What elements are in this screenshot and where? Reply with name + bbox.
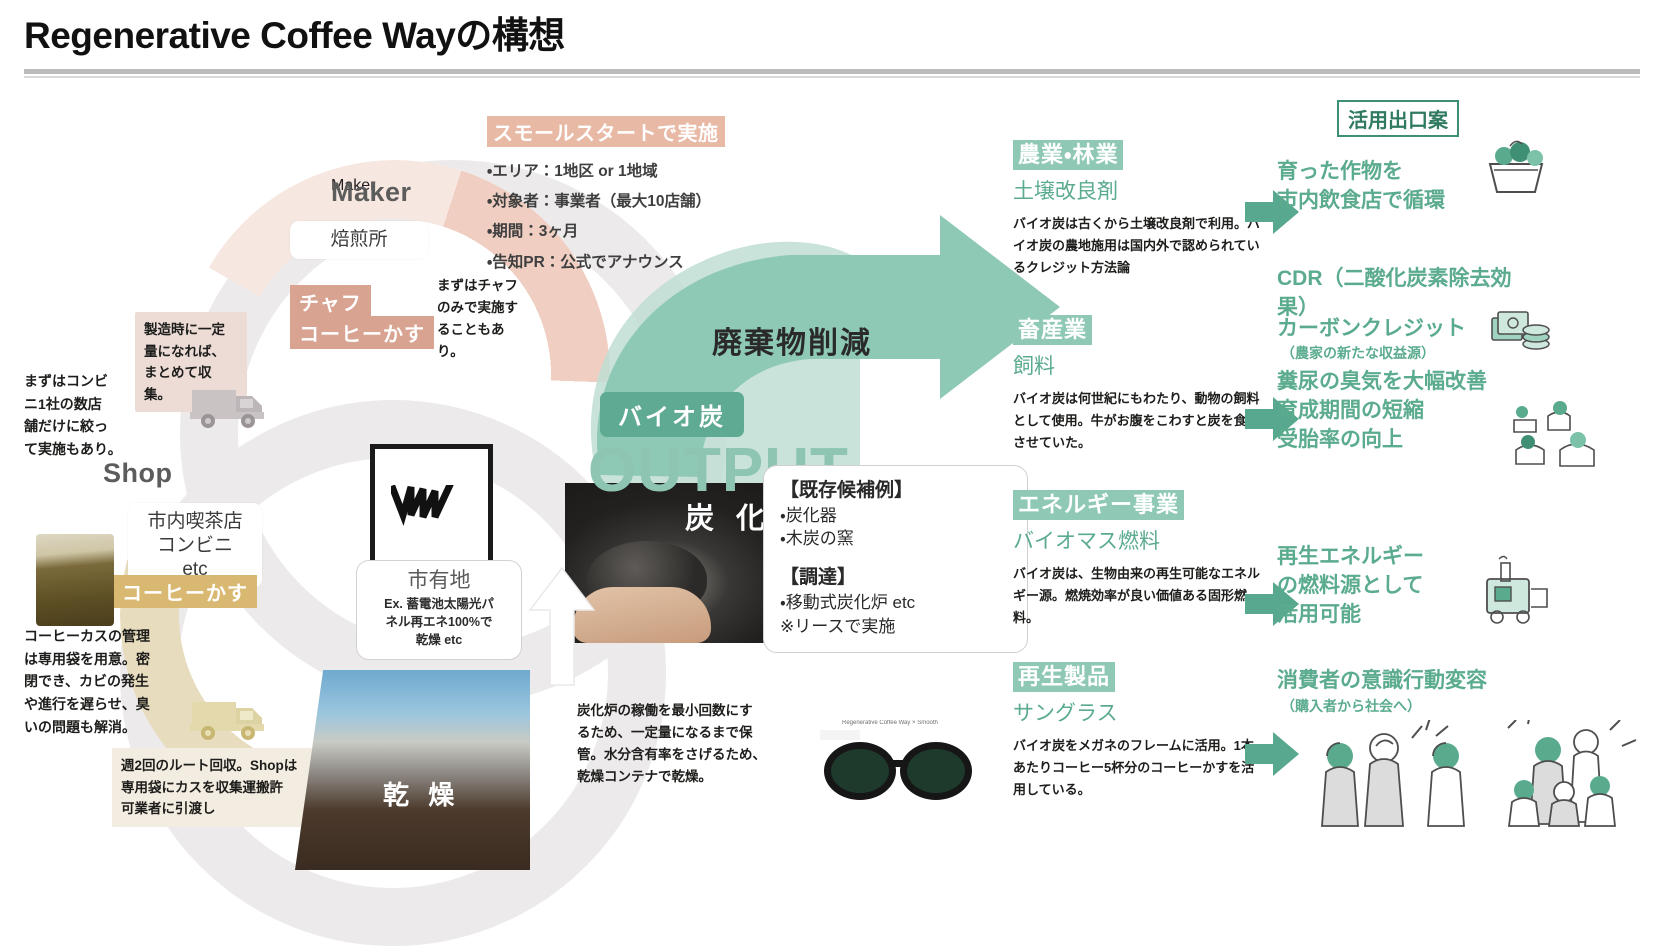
section-livestock: 畜産業 飼料 バイオ炭は何世紀にもわたり、動物の飼料として使用。牛がお腹をこわす… xyxy=(1013,315,1263,455)
biochar-tag: バイオ炭 xyxy=(600,392,744,437)
exit-item-consumer-change-sub: （購入者から社会へ） xyxy=(1281,697,1581,717)
exit-item-consumer-change: 消費者の意識行動変容 xyxy=(1277,667,1577,696)
candidate-item: ※リースで実施 xyxy=(780,615,1013,639)
section-tag: 農業・林業 xyxy=(1013,140,1123,170)
drying-site-photo xyxy=(295,670,530,870)
drying-label: 乾 燥 xyxy=(383,775,460,812)
coffee-grounds-bag-photo xyxy=(36,534,114,626)
maker-tag-grounds: コーヒーかす xyxy=(290,316,434,349)
city-land-card: 市有地 Ex. 蓄電池太陽光パ ネル再エネ100%で 乾燥 etc xyxy=(356,560,522,660)
section-body: バイオ炭をメガネのフレームに活用。1本あたりコーヒー5杯分のコーヒーかすを活用し… xyxy=(1013,735,1263,802)
people-group-icon xyxy=(1300,720,1640,865)
harvest-basket-icon xyxy=(1480,140,1550,198)
section-subtitle: バイオマス燃料 xyxy=(1013,529,1263,554)
section-subtitle: 土壌改良剤 xyxy=(1013,179,1263,204)
exit-arrow-icon xyxy=(1245,730,1301,778)
shop-note-convenience: まずはコンビ ニ1社の数店 舗だけに絞っ て実施もあり。 xyxy=(24,370,136,461)
title-divider-secondary xyxy=(24,76,1640,78)
candidate-heading-existing: 【既存候補例】 xyxy=(780,478,1013,504)
section-subtitle: 飼料 xyxy=(1013,354,1263,379)
section-tag: 再生製品 xyxy=(1013,662,1115,692)
carbonize-note: 炭化炉の稼働を最小回数にす るため、一定量になるまで保 管。水分含有率をさげるた… xyxy=(577,700,805,787)
title-divider xyxy=(24,69,1640,74)
maker-pill: 焙煎所 xyxy=(290,221,428,259)
avatar xyxy=(370,444,493,567)
sunglasses-photo: Regenerative Coffee Way × Smooth xyxy=(812,720,992,815)
flow-arrow-up-icon xyxy=(500,560,620,690)
section-body: バイオ炭は、生物由来の再生可能なエネルギー源。燃焼効率が良い価値ある固形燃料。 xyxy=(1013,563,1263,630)
small-start-title: スモールスタートで実施 xyxy=(487,116,725,147)
maker-heading-text: Maker xyxy=(331,177,412,208)
section-body: バイオ炭は何世紀にもわたり、動物の飼料として使用。牛がお腹をこわすと炭を食べさせ… xyxy=(1013,388,1263,455)
exit-item-livestock: 糞尿の臭気を大幅改善 育成期間の短縮 受胎率の向上 xyxy=(1277,368,1512,455)
candidate-item: ・木炭の窯 xyxy=(780,527,1013,551)
money-stack-icon xyxy=(1488,300,1554,358)
section-tag: 畜産業 xyxy=(1013,315,1092,345)
livestock-icon xyxy=(1508,390,1618,480)
waste-reduction-label: 廃棄物削減 xyxy=(712,318,872,362)
city-land-sub: Ex. 蓄電池太陽光パ ネル再エネ100%で 乾燥 etc xyxy=(365,595,513,649)
shop-note-management: コーヒーカスの管理 は専用袋を用意。密 閉でき、カビの発生 や進行を遅らせ、臭 … xyxy=(24,625,150,738)
sunglasses-photo-caption: Regenerative Coffee Way × Smooth xyxy=(842,720,938,726)
candidate-equipment-card: 【既存候補例】 ・炭化器 ・木炭の窯 【調達】 ・移動式炭化炉 etc ※リース… xyxy=(763,465,1028,653)
shop-heading: Shop xyxy=(103,458,173,489)
candidate-item: ・移動式炭化炉 etc xyxy=(780,591,1013,615)
candidate-heading-procurement: 【調達】 xyxy=(780,565,1013,591)
garbage-truck-icon-shop xyxy=(190,690,276,747)
section-subtitle: サングラス xyxy=(1013,701,1263,726)
section-energy: エネルギー事業 バイオマス燃料 バイオ炭は、生物由来の再生可能なエネルギー源。燃… xyxy=(1013,490,1263,630)
exit-options-heading: 活用出口案 xyxy=(1337,100,1459,137)
city-land-title: 市有地 xyxy=(365,569,513,592)
page-title: Regenerative Coffee Wayの構想 xyxy=(24,16,1640,57)
exit-item-renewable-energy: 再生エネルギー の燃料源として 活用可能 xyxy=(1277,543,1492,630)
exit-item-crops: 育った作物を 市内飲食店で循環 xyxy=(1277,158,1492,216)
shop-tag-grounds: コーヒーかす xyxy=(113,575,257,608)
title-bar: Regenerative Coffee Wayの構想 xyxy=(24,16,1640,78)
boiler-icon xyxy=(1475,555,1565,635)
section-recycled-product: 再生製品 サングラス バイオ炭をメガネのフレームに活用。1本あたりコーヒー5杯分… xyxy=(1013,662,1263,802)
section-tag: エネルギー事業 xyxy=(1013,490,1184,520)
small-start-item: ・エリア：1地区 or 1地域 xyxy=(487,157,777,187)
section-agriculture: 農業・林業 土壌改良剤 バイオ炭は古くから土壌改良剤で利用。バイオ炭の農地施用は… xyxy=(1013,140,1263,280)
exit-item-carbon-credit: カーボンクレジット xyxy=(1277,315,1507,344)
candidate-item: ・炭化器 xyxy=(780,504,1013,528)
regenerative-coffee-way-logo-icon xyxy=(391,485,471,527)
maker-tag-chaff: チャフ xyxy=(290,285,371,318)
garbage-truck-icon xyxy=(190,378,276,435)
exit-item-carbon-credit-sub: （農家の新たな収益源） xyxy=(1281,344,1511,364)
section-body: バイオ炭は古くから土壌改良剤で利用。バイオ炭の農地施用は国内外で認められているク… xyxy=(1013,213,1263,280)
